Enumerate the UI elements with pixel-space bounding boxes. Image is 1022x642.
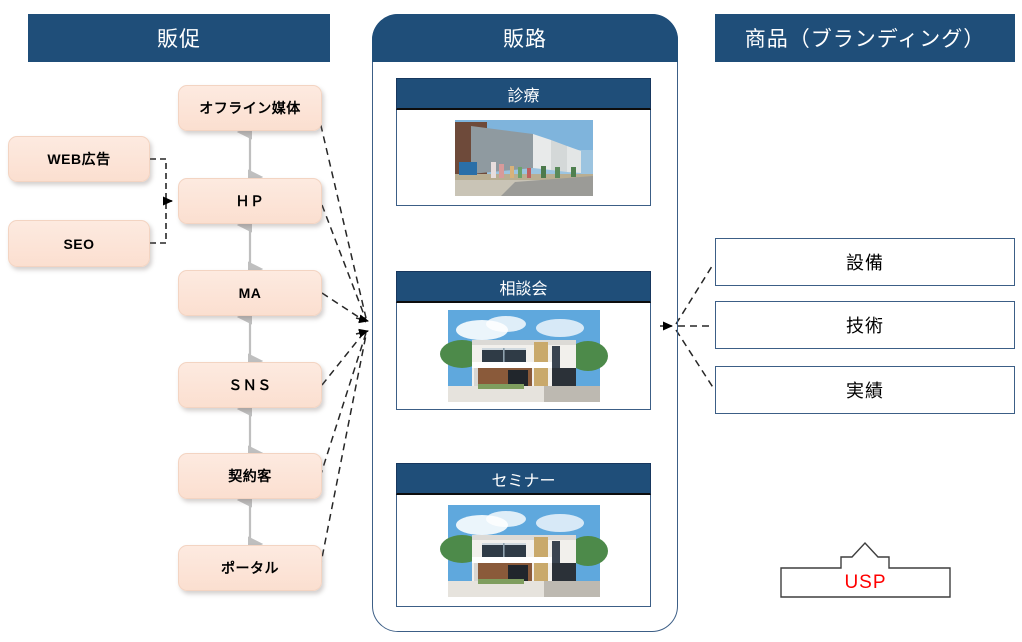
box-sns-label: ＳＮＳ [228,375,272,395]
box-portal-label: ポータル [221,558,279,578]
box-technology-label: 技術 [846,312,884,338]
box-technology[interactable]: 技術 [715,301,1015,349]
box-offline-media-label: オフライン媒体 [199,98,301,118]
column-header-product-branding: 商品（ブランディング） [715,14,1015,62]
box-contract-customer-label: 契約客 [228,466,272,486]
panel-medical-care-body [396,110,651,206]
column-header-product-branding-label: 商品（ブランディング） [745,23,986,53]
usp-callout-label: USP [781,568,950,597]
panel-consultation[interactable]: 相談会 [396,271,651,410]
diagram-canvas: 販促 販路 商品（ブランディング） WEB広告 SEO オフライン媒体 ＨＰ M… [0,0,1022,642]
box-seo-label: SEO [63,236,94,252]
feeder-bracket-connector [150,159,166,243]
modern-house-photo [448,505,600,597]
panel-seminar-body [396,495,651,607]
panel-medical-care[interactable]: 診療 [396,78,651,206]
column-header-sales-channel: 販路 [372,14,678,62]
box-contract-customer[interactable]: 契約客 [178,453,322,499]
panel-medical-care-title: 診療 [396,78,651,110]
box-track-record[interactable]: 実績 [715,366,1015,414]
panel-medical-care-label: 診療 [507,82,539,106]
panel-seminar[interactable]: セミナー [396,463,651,607]
panel-seminar-title: セミナー [396,463,651,495]
column-header-promotion-label: 販促 [157,23,201,53]
middle-to-right-connectors [676,263,714,389]
box-hp[interactable]: ＨＰ [178,178,322,224]
box-ma[interactable]: MA [178,270,322,316]
box-sns[interactable]: ＳＮＳ [178,362,322,408]
box-web-ad[interactable]: WEB広告 [8,136,150,182]
box-hp-label: ＨＰ [236,191,265,211]
box-ma-label: MA [239,285,262,301]
box-portal[interactable]: ポータル [178,545,322,591]
panel-seminar-label: セミナー [491,467,555,491]
left-to-middle-connectors [318,113,366,568]
streetscape-photo [455,120,593,196]
box-equipment[interactable]: 設備 [715,238,1015,286]
box-seo[interactable]: SEO [8,220,150,267]
column-header-promotion: 販促 [28,14,330,62]
modern-house-photo [448,310,600,402]
left-to-middle-arrowheads [356,318,368,334]
panel-consultation-body [396,303,651,410]
box-equipment-label: 設備 [846,249,884,275]
box-offline-media[interactable]: オフライン媒体 [178,85,322,131]
column-header-sales-channel-label: 販路 [503,23,547,53]
box-track-record-label: 実績 [846,377,884,403]
usp-callout[interactable]: USP [781,540,950,597]
box-web-ad-label: WEB広告 [47,149,110,169]
panel-consultation-label: 相談会 [499,275,547,299]
panel-consultation-title: 相談会 [396,271,651,303]
